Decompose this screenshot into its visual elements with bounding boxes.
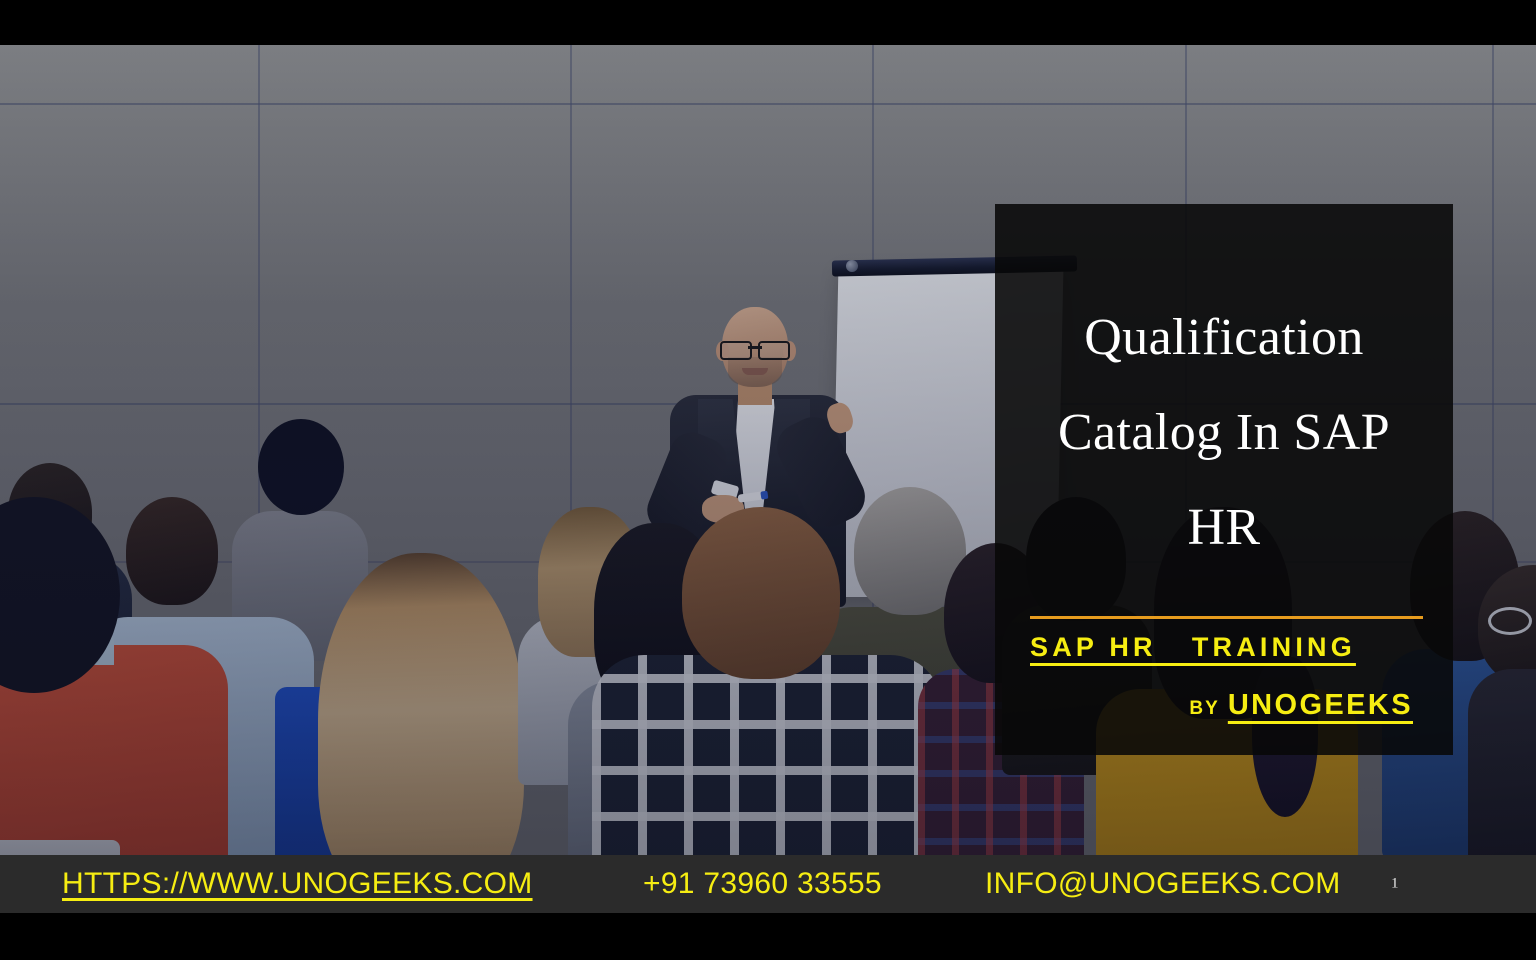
whiteboard-knob-icon bbox=[846, 260, 858, 272]
audience-member bbox=[592, 507, 932, 855]
title-divider bbox=[1030, 616, 1423, 619]
audience-torso-plaid bbox=[592, 655, 942, 855]
footer-website-link[interactable]: HTTPS://WWW.UNOGEEKS.COM bbox=[62, 867, 533, 901]
title-block: Qualification Catalog In SAP HR bbox=[1023, 290, 1425, 575]
audience-head bbox=[0, 497, 120, 693]
footer-phone[interactable]: +91 73960 33555 bbox=[643, 867, 882, 901]
glasses-icon bbox=[1488, 607, 1532, 635]
title-panel: Qualification Catalog In SAP HR SAP HR T… bbox=[995, 204, 1453, 755]
audience-member bbox=[1478, 565, 1536, 855]
presentation-slide: Qualification Catalog In SAP HR SAP HR T… bbox=[0, 0, 1536, 960]
subtitle-block: SAP HR TRAINING BYUNOGEEKS bbox=[1030, 632, 1425, 722]
byline: BYUNOGEEKS bbox=[1030, 689, 1425, 722]
audience-member bbox=[0, 497, 128, 797]
glasses-bridge bbox=[748, 346, 762, 349]
audience-member bbox=[318, 553, 524, 855]
page-number: 1 bbox=[1391, 876, 1399, 893]
chair bbox=[0, 840, 120, 855]
audience-hair bbox=[318, 553, 524, 855]
audience-torso bbox=[1468, 669, 1536, 855]
audience-head bbox=[682, 507, 840, 679]
slide-footer: HTTPS://WWW.UNOGEEKS.COM +91 73960 33555… bbox=[0, 855, 1536, 913]
page-title: Qualification Catalog In SAP HR bbox=[1023, 290, 1425, 575]
brand-name: UNOGEEKS bbox=[1228, 689, 1413, 721]
glasses-icon bbox=[720, 341, 790, 356]
course-name: SAP HR TRAINING bbox=[1030, 632, 1425, 663]
presenter-mouth bbox=[742, 368, 768, 375]
byline-label: BY bbox=[1189, 698, 1219, 719]
wall-seam-horizontal bbox=[0, 103, 1536, 105]
footer-email[interactable]: INFO@UNOGEEKS.COM bbox=[985, 867, 1341, 901]
